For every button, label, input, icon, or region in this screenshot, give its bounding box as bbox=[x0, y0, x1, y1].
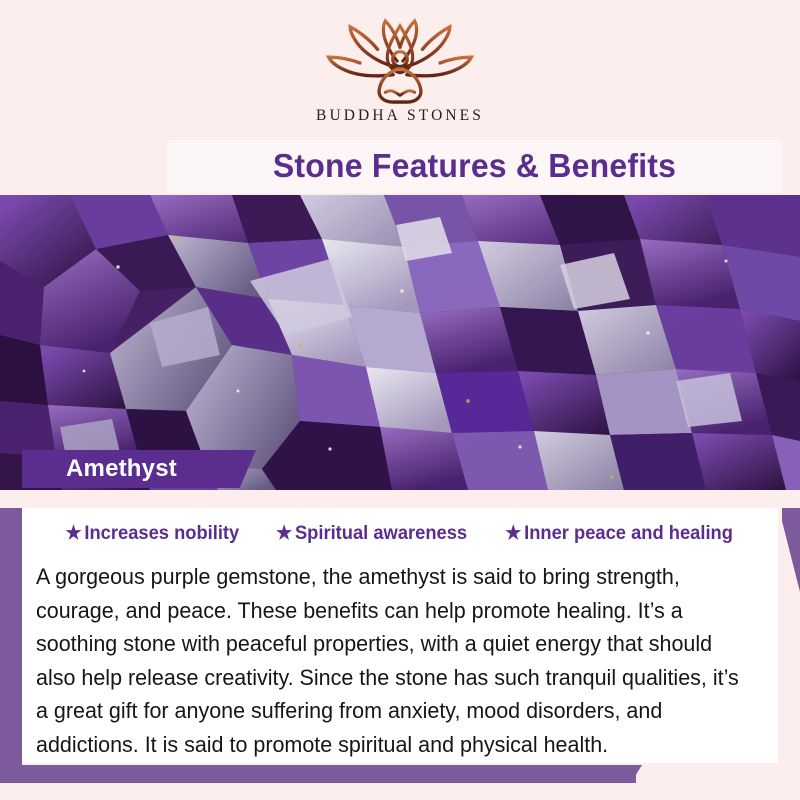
stone-name-label: Amethyst bbox=[66, 455, 177, 483]
benefit-label-3: Inner peace and healing bbox=[524, 522, 733, 545]
frame-border-bottom-tail bbox=[614, 765, 642, 783]
stone-name-banner: Amethyst bbox=[22, 450, 256, 488]
frame-border-bottom bbox=[0, 765, 636, 783]
amethyst-crystal-cluster-photo bbox=[0, 195, 800, 490]
star-icon: ★ bbox=[505, 524, 521, 543]
cream-divider-strip bbox=[0, 490, 800, 508]
benefit-label-1: Increases nobility bbox=[84, 522, 239, 545]
star-icon: ★ bbox=[276, 524, 292, 543]
brand-logo: BUDDHA STONES bbox=[0, 18, 800, 138]
page-title: Stone Features & Benefits bbox=[176, 139, 773, 192]
stone-description: A gorgeous purple gemstone, the amethyst… bbox=[36, 560, 745, 761]
benefit-item-2: ★ Spiritual awareness bbox=[276, 522, 467, 545]
lotus-meditation-figure-icon bbox=[315, 18, 485, 106]
benefit-label-2: Spiritual awareness bbox=[295, 522, 467, 545]
brand-name: BUDDHA STONES bbox=[316, 107, 484, 125]
infographic-page: BUDDHA STONES Stone Features & Benefits bbox=[0, 0, 800, 800]
header: BUDDHA STONES Stone Features & Benefits bbox=[0, 0, 800, 195]
benefit-item-1: ★ Increases nobility bbox=[65, 522, 239, 545]
star-icon: ★ bbox=[65, 524, 81, 543]
frame-border-left bbox=[0, 489, 22, 783]
benefits-list: ★ Increases nobility ★ Spiritual awarene… bbox=[22, 513, 778, 553]
benefit-item-3: ★ Inner peace and healing bbox=[505, 522, 733, 545]
crystal-photo-graphic bbox=[0, 195, 800, 490]
